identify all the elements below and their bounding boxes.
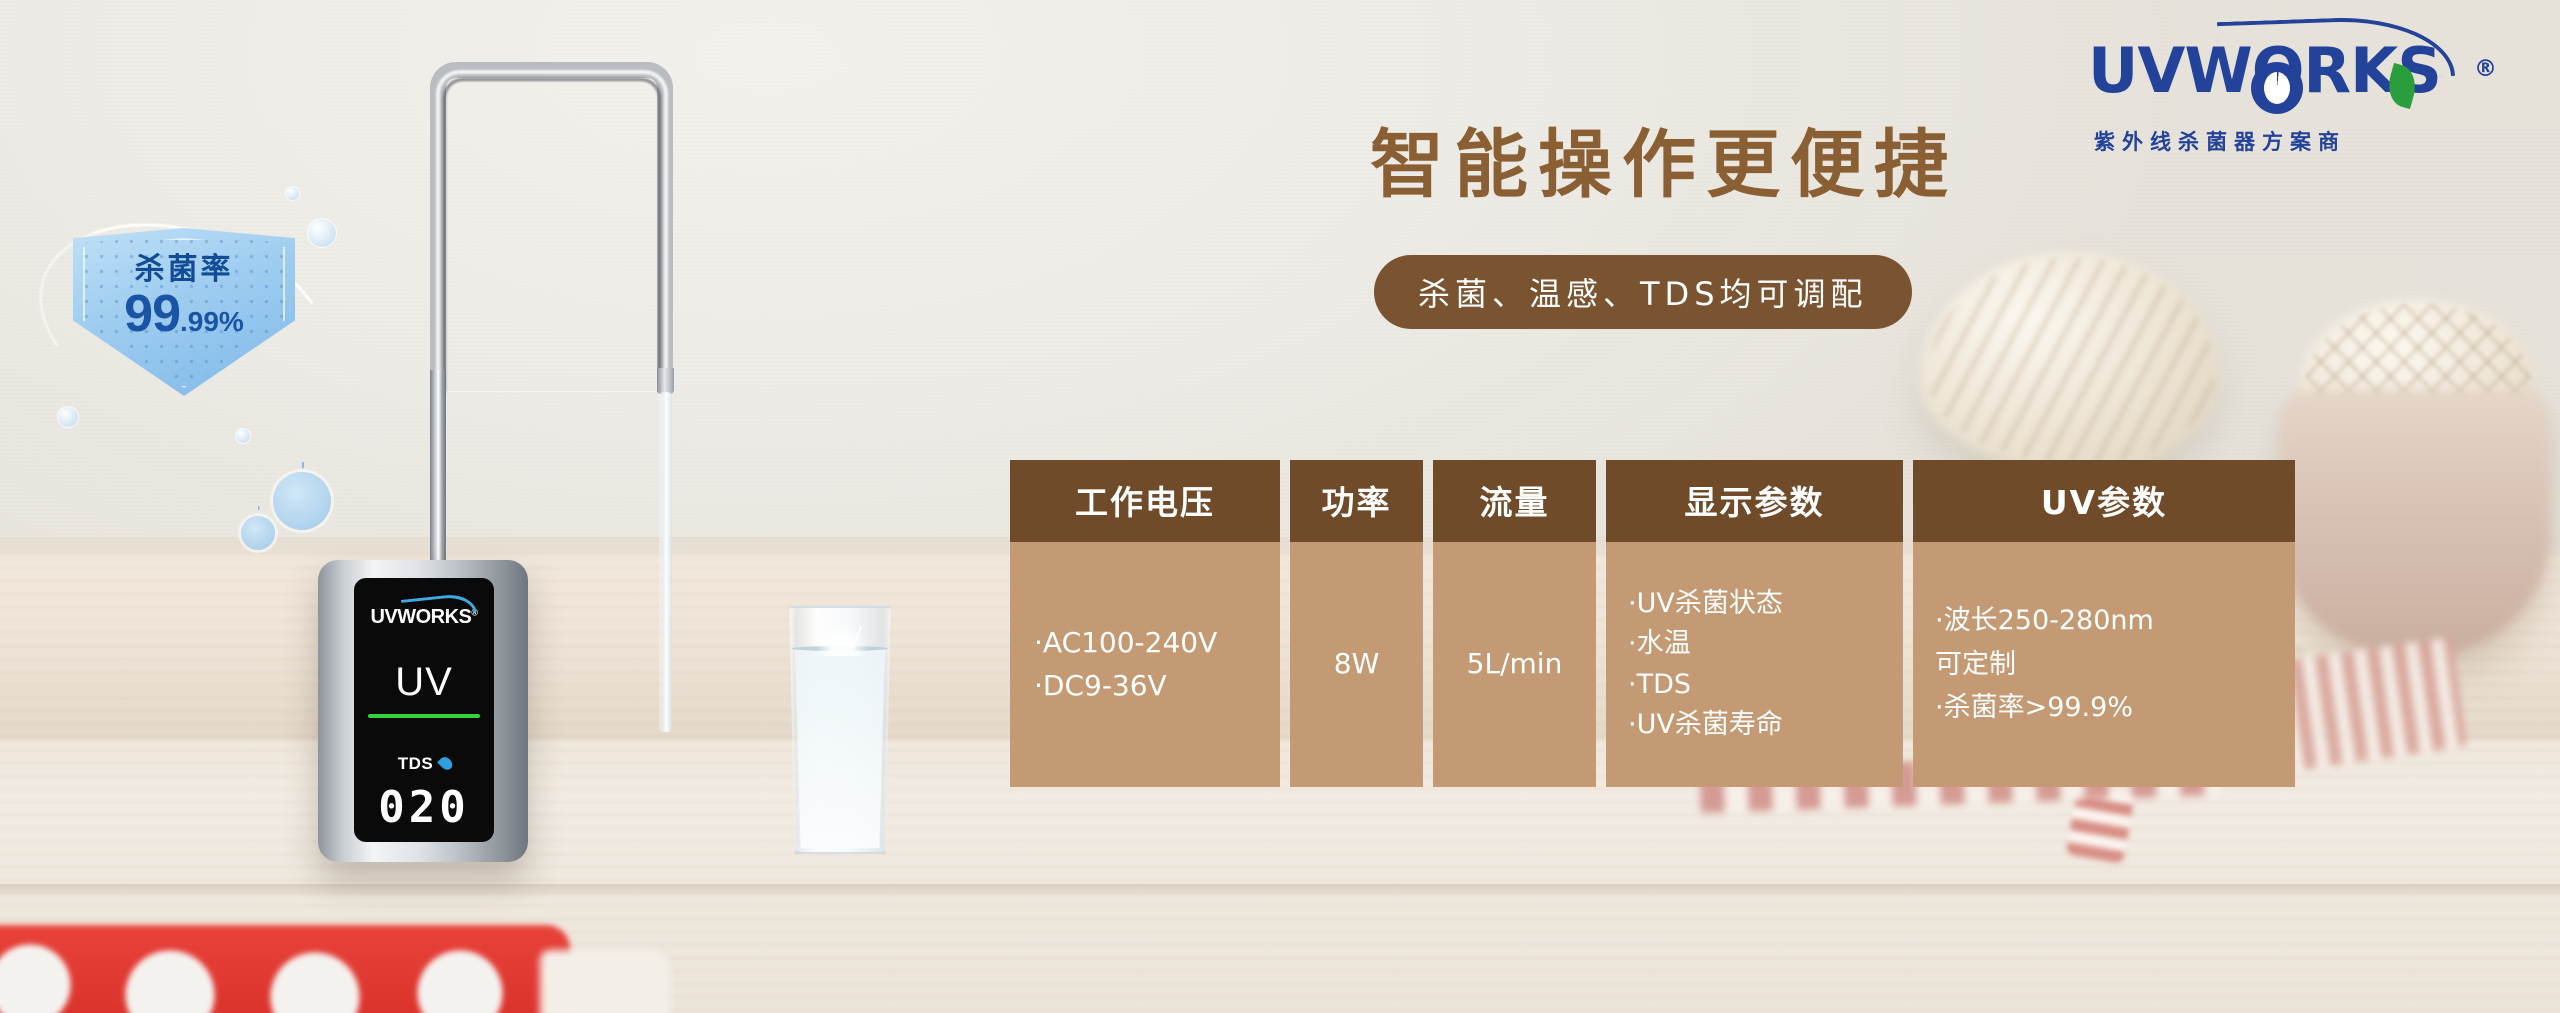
counter-edge	[0, 884, 2560, 898]
spec-header: UV参数	[1913, 460, 2295, 542]
spec-header: 功率	[1290, 460, 1423, 542]
water-stream	[659, 392, 672, 732]
spec-column-display: 显示参数 ·UV杀菌状态 ·水温 ·TDS ·UV杀菌寿命	[1606, 460, 1903, 787]
spec-line: ·杀菌率>99.9%	[1935, 686, 2277, 730]
spec-line: ·水温	[1628, 624, 1885, 665]
badge-value: 99.99%	[73, 284, 295, 344]
sterilization-rate-badge: 杀菌率 99.99%	[45, 200, 335, 390]
spec-table: 工作电压 ·AC100-240V ·DC9-36V 功率 8W 流量 5L/mi…	[1010, 460, 2295, 787]
badge-title: 杀菌率	[73, 244, 295, 288]
device-tds-row: TDS	[354, 754, 494, 774]
faucet-column	[430, 370, 446, 590]
spec-column-voltage: 工作电压 ·AC100-240V ·DC9-36V	[1010, 460, 1280, 787]
woven-basket	[2280, 390, 2550, 658]
water-drop-icon	[437, 755, 455, 773]
spec-column-flow: 流量 5L/min	[1433, 460, 1596, 787]
bubble-icon	[57, 406, 79, 428]
spec-column-power: 功率 8W	[1290, 460, 1423, 787]
spec-line: ·DC9-36V	[1034, 665, 1262, 708]
device-brand-logo: UVWORKS®	[354, 606, 494, 629]
registered-mark: ®	[2474, 58, 2496, 81]
badge-value-decimal: .99%	[180, 306, 244, 337]
bubble-icon	[235, 428, 251, 444]
promo-banner: UVWORKS® UV TDS 020 杀菌率 99.99% UVWORKS	[0, 0, 2560, 1013]
glass-water-fill	[792, 648, 888, 848]
page-title: 智能操作更便捷	[1370, 105, 1958, 212]
sunburst-rays-icon	[2251, 62, 2303, 114]
uv-sterilizer-device: UVWORKS® UV TDS 020	[318, 560, 528, 862]
polka-dot-cloth	[0, 925, 570, 1013]
spec-column-uv: UV参数 ·波长250-280nm 可定制 ·杀菌率>99.9%	[1913, 460, 2295, 787]
device-tds-value: 020	[354, 782, 494, 833]
bubble-icon	[285, 186, 300, 201]
spec-line: ·波长250-280nm	[1935, 599, 2277, 643]
device-status-bar	[368, 714, 480, 718]
faucet-spout-tip	[657, 368, 674, 394]
spec-body: ·AC100-240V ·DC9-36V	[1010, 542, 1280, 787]
spec-body: ·UV杀菌状态 ·水温 ·TDS ·UV杀菌寿命	[1606, 542, 1903, 787]
spec-line: ·TDS	[1628, 665, 1885, 706]
faucet-shadow-line	[443, 78, 661, 392]
spec-header: 工作电压	[1010, 460, 1280, 542]
brand-wordmark: UVWORKS ®	[2088, 40, 2508, 102]
spec-header: 显示参数	[1606, 460, 1903, 542]
cloth-white-edge	[540, 950, 670, 1013]
spec-line: ·UV杀菌状态	[1628, 584, 1885, 625]
device-display-screen: UVWORKS® UV TDS 020	[354, 578, 494, 842]
spec-line: 可定制	[1935, 643, 2277, 687]
spec-body: ·波长250-280nm 可定制 ·杀菌率>99.9%	[1913, 542, 2295, 787]
brand-logo: UVWORKS ® 紫外线杀菌器方案商	[2088, 40, 2508, 160]
device-tds-label: TDS	[398, 754, 434, 773]
badge-value-integer: 99	[124, 285, 180, 343]
spec-line: ·AC100-240V	[1034, 622, 1262, 665]
spec-body: 8W	[1290, 542, 1423, 787]
spec-line: 5L/min	[1467, 643, 1563, 686]
water-splash	[816, 622, 868, 656]
device-mode-label: UV	[354, 660, 494, 705]
spec-line: ·UV杀菌寿命	[1628, 705, 1885, 746]
germ-icon	[241, 516, 275, 550]
spec-body: 5L/min	[1433, 542, 1596, 787]
subtitle-pill: 杀菌、温感、TDS均可调配	[1374, 255, 1912, 329]
spec-line: 8W	[1334, 643, 1380, 686]
bubble-icon	[307, 218, 337, 248]
brand-tagline: 紫外线杀菌器方案商	[2094, 126, 2504, 156]
spec-header: 流量	[1433, 460, 1596, 542]
